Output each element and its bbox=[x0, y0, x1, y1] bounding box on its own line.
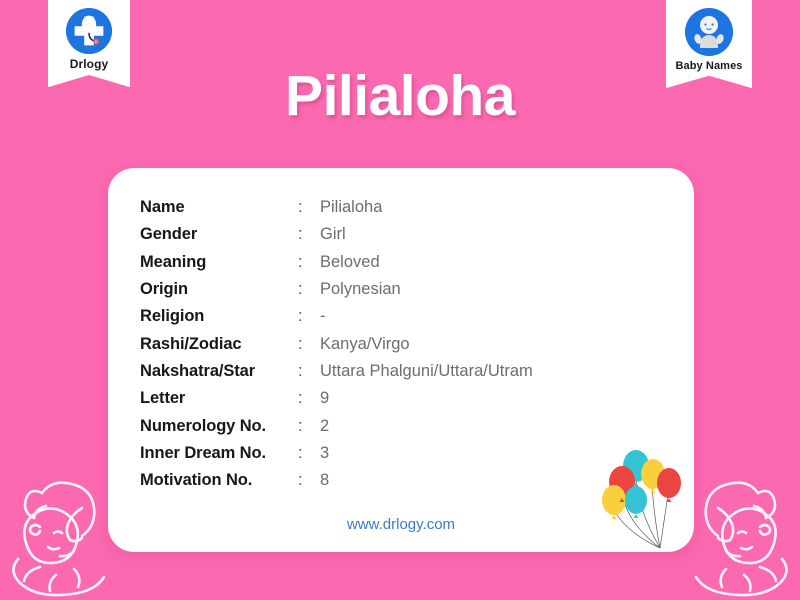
name-details-table: Name : Pilialoha Gender : Girl Meaning :… bbox=[140, 194, 533, 494]
table-row: Numerology No. : 2 bbox=[140, 412, 533, 439]
table-row: Letter : 9 bbox=[140, 385, 533, 412]
row-label: Motivation No. bbox=[140, 467, 298, 494]
row-value: Girl bbox=[320, 221, 533, 248]
balloons-icon bbox=[596, 440, 692, 552]
site-url[interactable]: www.drlogy.com bbox=[108, 516, 694, 533]
row-label: Meaning bbox=[140, 249, 298, 276]
mother-and-baby-icon-right bbox=[684, 455, 800, 600]
row-value: Polynesian bbox=[320, 276, 533, 303]
row-separator: : bbox=[298, 412, 320, 439]
name-details-card: Name : Pilialoha Gender : Girl Meaning :… bbox=[108, 168, 694, 552]
page-title: Pilialoha bbox=[0, 63, 800, 129]
mother-and-baby-icon-left bbox=[0, 455, 116, 600]
row-label: Gender bbox=[140, 221, 298, 248]
row-label: Rashi/Zodiac bbox=[140, 330, 298, 357]
row-label: Religion bbox=[140, 303, 298, 330]
row-separator: : bbox=[298, 467, 320, 494]
row-value: Uttara Phalguni/Uttara/Utram bbox=[320, 358, 533, 385]
table-row: Nakshatra/Star : Uttara Phalguni/Uttara/… bbox=[140, 358, 533, 385]
row-value: Beloved bbox=[320, 249, 533, 276]
svg-text:D: D bbox=[95, 40, 98, 44]
row-label: Origin bbox=[140, 276, 298, 303]
row-separator: : bbox=[298, 194, 320, 221]
row-separator: : bbox=[298, 249, 320, 276]
table-row: Motivation No. : 8 bbox=[140, 467, 533, 494]
row-label: Numerology No. bbox=[140, 412, 298, 439]
row-separator: : bbox=[298, 358, 320, 385]
row-separator: : bbox=[298, 440, 320, 467]
row-value: 8 bbox=[320, 467, 533, 494]
table-row: Meaning : Beloved bbox=[140, 249, 533, 276]
table-row: Origin : Polynesian bbox=[140, 276, 533, 303]
row-label: Nakshatra/Star bbox=[140, 358, 298, 385]
table-row: Rashi/Zodiac : Kanya/Virgo bbox=[140, 330, 533, 357]
row-label: Inner Dream No. bbox=[140, 440, 298, 467]
row-separator: : bbox=[298, 385, 320, 412]
row-value: 3 bbox=[320, 440, 533, 467]
row-value: Kanya/Virgo bbox=[320, 330, 533, 357]
baby-icon bbox=[685, 8, 733, 56]
row-value: Pilialoha bbox=[320, 194, 533, 221]
row-label: Letter bbox=[140, 385, 298, 412]
row-separator: : bbox=[298, 221, 320, 248]
table-row: Gender : Girl bbox=[140, 221, 533, 248]
row-label: Name bbox=[140, 194, 298, 221]
table-row: Inner Dream No. : 3 bbox=[140, 440, 533, 467]
table-row: Name : Pilialoha bbox=[140, 194, 533, 221]
table-row: Religion : - bbox=[140, 303, 533, 330]
row-value: - bbox=[320, 303, 533, 330]
row-value: 2 bbox=[320, 412, 533, 439]
row-separator: : bbox=[298, 303, 320, 330]
row-separator: : bbox=[298, 330, 320, 357]
doctor-medical-cross-icon: D bbox=[66, 8, 112, 54]
row-value: 9 bbox=[320, 385, 533, 412]
row-separator: : bbox=[298, 276, 320, 303]
